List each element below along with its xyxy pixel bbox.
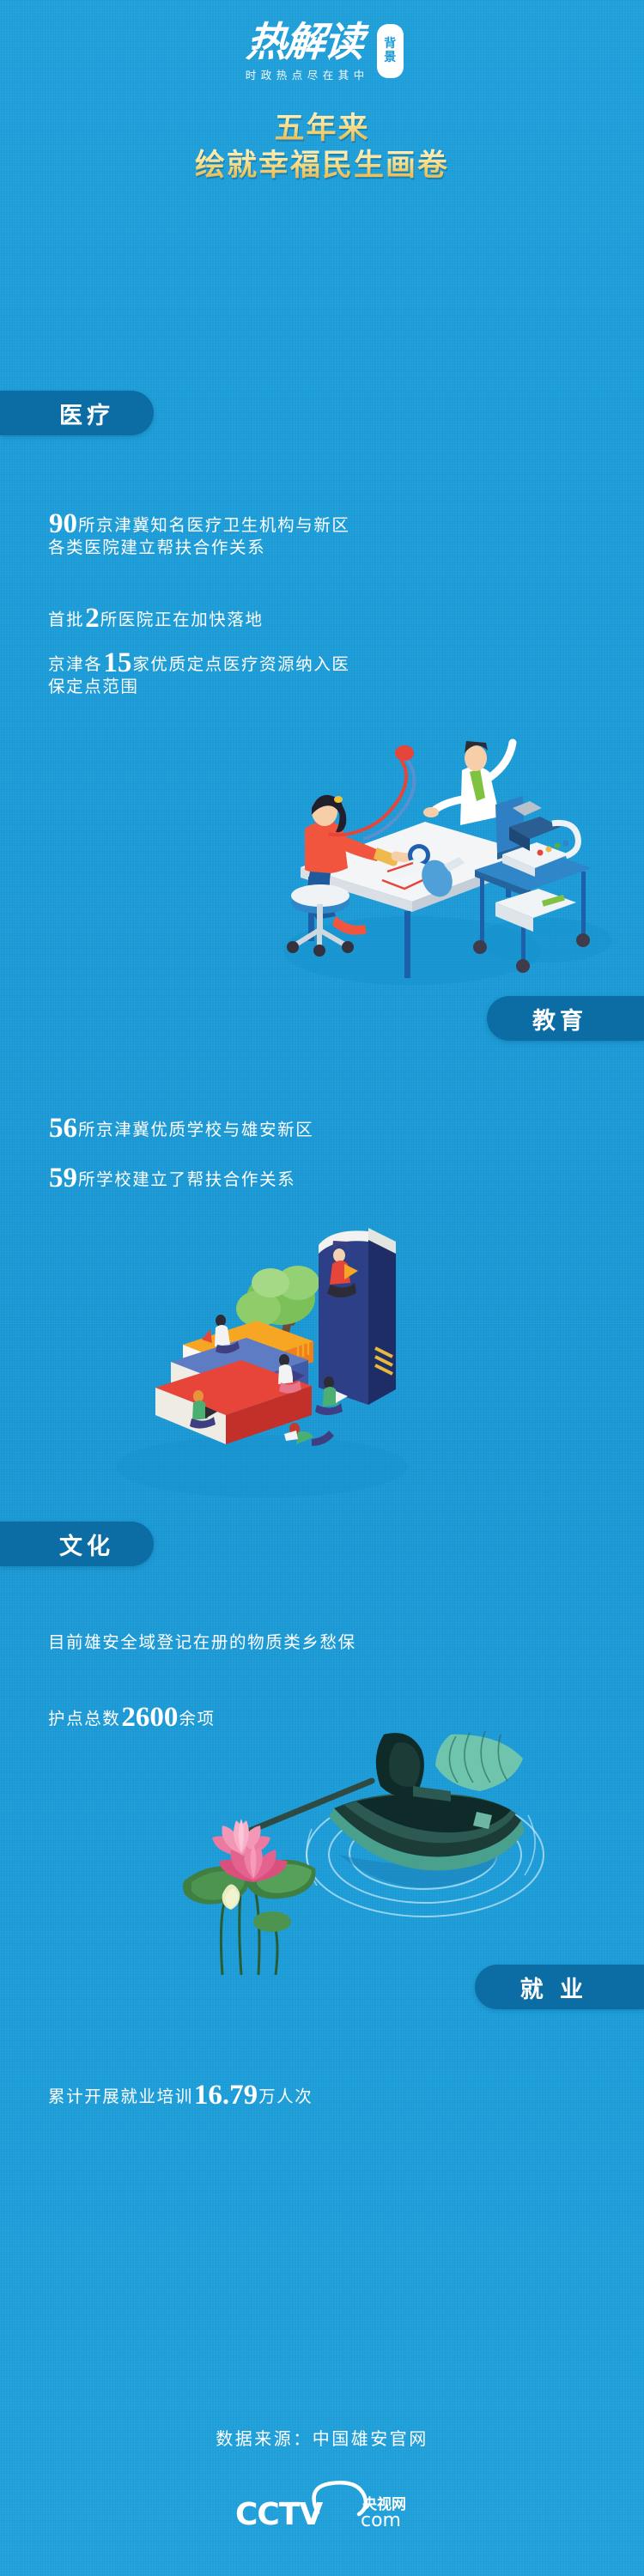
stat-text: 所京津冀优质学校与雄安新区 — [78, 1121, 313, 1139]
section-banner-employment: 就 业 — [475, 1965, 644, 2009]
badge-char-2: 景 — [384, 52, 396, 64]
hejiedu-logo: 热解读 — [246, 22, 364, 63]
stat-medical-1b: 各类医院建立帮扶合作关系 — [48, 532, 265, 565]
section-banner-label: 就 业 — [516, 1971, 587, 2004]
section-banner-education: 教育 — [487, 996, 644, 1041]
stat-text: 所学校建立了帮扶合作关系 — [78, 1171, 295, 1189]
stat-text: 保定点范围 — [48, 678, 139, 696]
stat-number: 16.79 — [193, 2080, 258, 2111]
section-banner-label: 文化 — [55, 1528, 114, 1561]
stat-text: 所医院正在加快落地 — [100, 611, 264, 629]
section-banner-medical: 医疗 — [0, 391, 154, 435]
data-source-note: 数据来源：中国雄安官网 — [0, 2425, 644, 2450]
brand-tagline: 时政热点尽在其中 — [240, 70, 369, 82]
stat-employment-1: 累计开展就业培训16.79万人次 — [48, 2068, 313, 2123]
stat-text: 家优质定点医疗资源纳入医 — [132, 656, 349, 674]
stat-culture-1: 目前雄安全域登记在册的物质类乡愁保 — [48, 1627, 356, 1660]
stat-medical-3b: 保定点范围 — [48, 671, 139, 704]
section-banner-culture: 文化 — [0, 1522, 154, 1566]
lotus-and-boat-illustration — [82, 1726, 571, 1975]
page-title-line-1: 五年来 — [0, 111, 644, 148]
cctv-logo-mark: CCTV 央视网 com — [232, 2480, 412, 2533]
stat-education-1: 56所京津冀优质学校与雄安新区 — [48, 1101, 313, 1156]
cctv-wordmark: CCTV — [235, 2497, 323, 2532]
brand-header: 热解读 时政热点尽在其中 背 景 — [0, 0, 644, 82]
stat-number: 2 — [84, 603, 100, 634]
stat-text: 万人次 — [258, 2088, 313, 2106]
page-title-line-2: 绘就幸福民生画卷 — [0, 148, 644, 185]
stat-text: 累计开展就业培训 — [48, 2088, 193, 2106]
stat-number: 56 — [48, 1113, 78, 1144]
stat-number: 59 — [48, 1163, 78, 1194]
section-banner-label: 医疗 — [55, 397, 114, 430]
background-badge: 背 景 — [377, 24, 404, 78]
cctv-domain: com — [361, 2510, 401, 2531]
stat-text: 首批 — [48, 611, 84, 629]
badge-char-1: 背 — [384, 38, 396, 51]
doctor-patient-checkup-illustration — [253, 726, 614, 1009]
stat-education-2: 59所学校建立了帮扶合作关系 — [48, 1151, 295, 1206]
stat-text: 目前雄安全域登记在册的物质类乡愁保 — [48, 1634, 356, 1652]
stacked-books-readers-illustration — [82, 1219, 442, 1511]
section-banner-label: 教育 — [528, 1002, 587, 1036]
stat-text: 各类医院建立帮扶合作关系 — [48, 539, 265, 557]
page-title: 五年来 绘就幸福民生画卷 — [0, 111, 644, 185]
cctv-logo: CCTV 央视网 com — [0, 2480, 644, 2533]
